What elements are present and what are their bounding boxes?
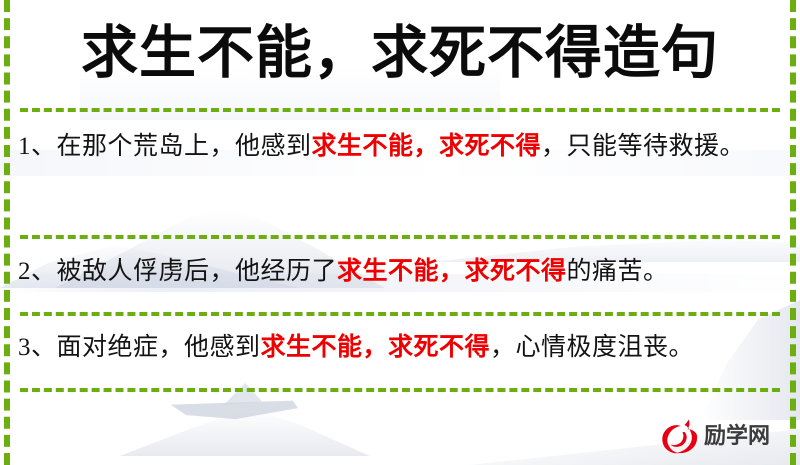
sentence-index-2: 2、 [18, 258, 57, 285]
sentence-text-after-2: 的痛苦。 [567, 258, 669, 285]
site-logo[interactable]: 励学网 [660, 412, 785, 460]
sentence-item-1: 1、在那个荒岛上，他感到求生不能，求死不得，只能等待救援。 [18, 127, 778, 167]
sentence-index-1: 1、 [18, 133, 57, 160]
divider-3 [20, 312, 780, 316]
site-logo-text: 励学网 [704, 425, 770, 447]
sentence-text-after-1: ，只能等待救援。 [541, 133, 745, 160]
sentence-text-before-2: 被敌人俘虏后，他经历了 [57, 258, 338, 285]
ink-wash-ridge-bottom [120, 402, 370, 456]
divider-2 [20, 235, 780, 239]
ink-wash-sail [222, 383, 262, 405]
page-root: 求生不能，求死不得造句 1、在那个荒岛上，他感到求生不能，求死不得，只能等待救援… [0, 0, 800, 465]
idiom-highlight-2: 求生不能，求死不得 [337, 258, 567, 285]
ink-wash-boat [168, 398, 298, 420]
sentence-text-before-3: 面对绝症，他感到 [57, 334, 261, 361]
divider-4 [20, 388, 780, 392]
page-title: 求生不能，求死不得造句 [0, 18, 800, 90]
red-swirl-flame-icon [660, 415, 702, 457]
divider-1 [20, 108, 780, 112]
sentence-text-after-3: ，心情极度沮丧。 [490, 334, 694, 361]
sentence-text-before-1: 在那个荒岛上，他感到 [57, 133, 312, 160]
idiom-highlight-3: 求生不能，求死不得 [261, 334, 491, 361]
sentence-item-2: 2、被敌人俘虏后，他经历了求生不能，求死不得的痛苦。 [18, 252, 778, 292]
sentence-item-3: 3、面对绝症，他感到求生不能，求死不得，心情极度沮丧。 [18, 328, 778, 368]
sentence-index-3: 3、 [18, 334, 57, 361]
idiom-highlight-1: 求生不能，求死不得 [312, 133, 542, 160]
